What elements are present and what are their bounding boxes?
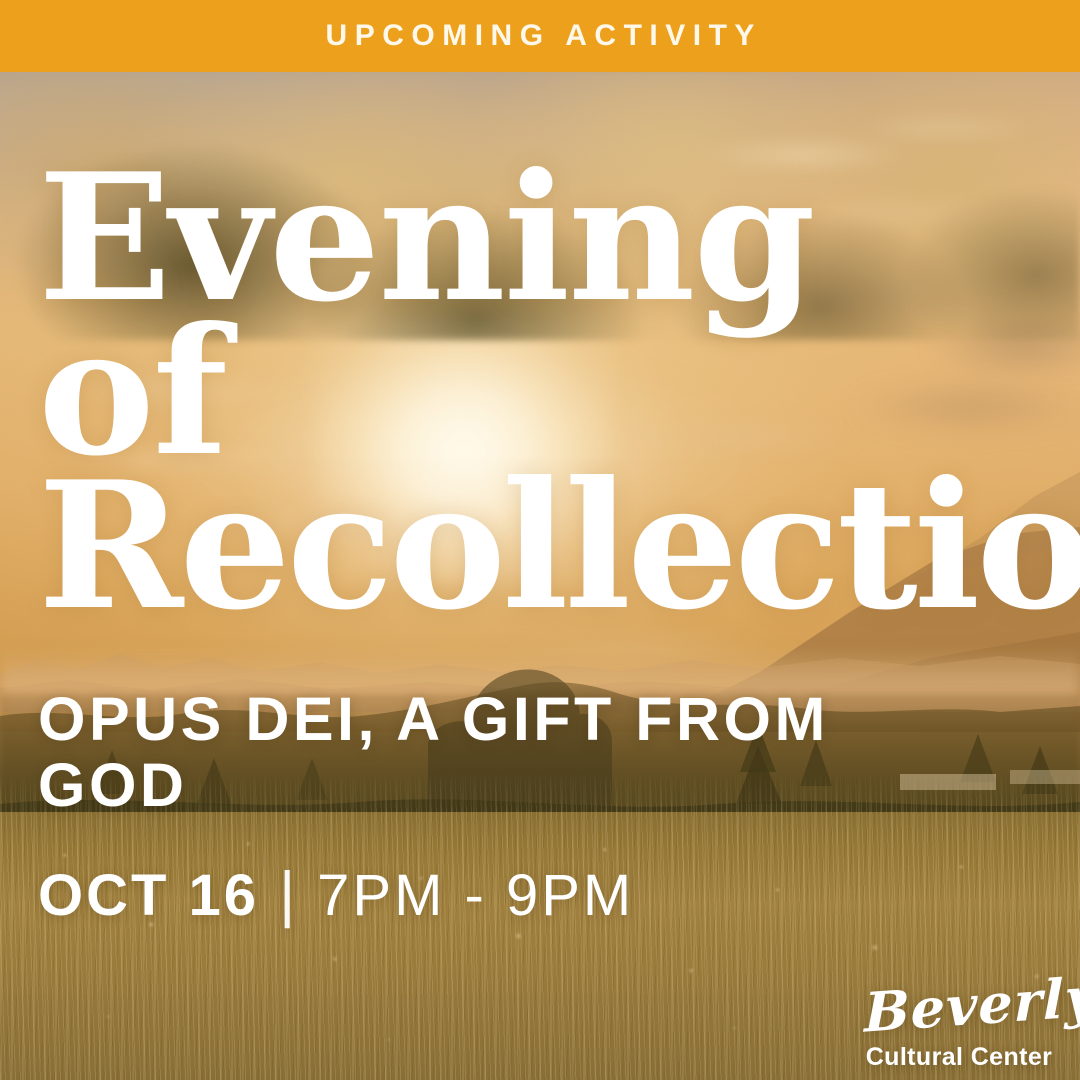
event-poster: UPCOMING ACTIVITY Evening of Recollectio…	[0, 0, 1080, 1080]
upcoming-activity-banner: UPCOMING ACTIVITY	[0, 0, 1080, 72]
event-title: Evening of Recollection	[38, 162, 1048, 624]
logo-script-name: Beverly	[864, 972, 1054, 1039]
banner-label: UPCOMING ACTIVITY	[318, 21, 762, 51]
event-time: 7PM - 9PM	[317, 862, 634, 929]
poster-content: Evening of Recollection OPUS DEI, A GIFT…	[0, 72, 1080, 1080]
event-title-line-3: Recollection	[38, 470, 1048, 624]
organization-logo: Beverly Cultural Center	[864, 979, 1054, 1070]
event-schedule: OCT 16 | 7PM - 9PM	[38, 859, 634, 930]
logo-subtitle: Cultural Center	[864, 1045, 1054, 1070]
event-subtitle: OPUS DEI, A GIFT FROM GOD	[38, 687, 998, 819]
schedule-separator: |	[279, 859, 295, 930]
event-date: OCT 16	[38, 862, 259, 929]
